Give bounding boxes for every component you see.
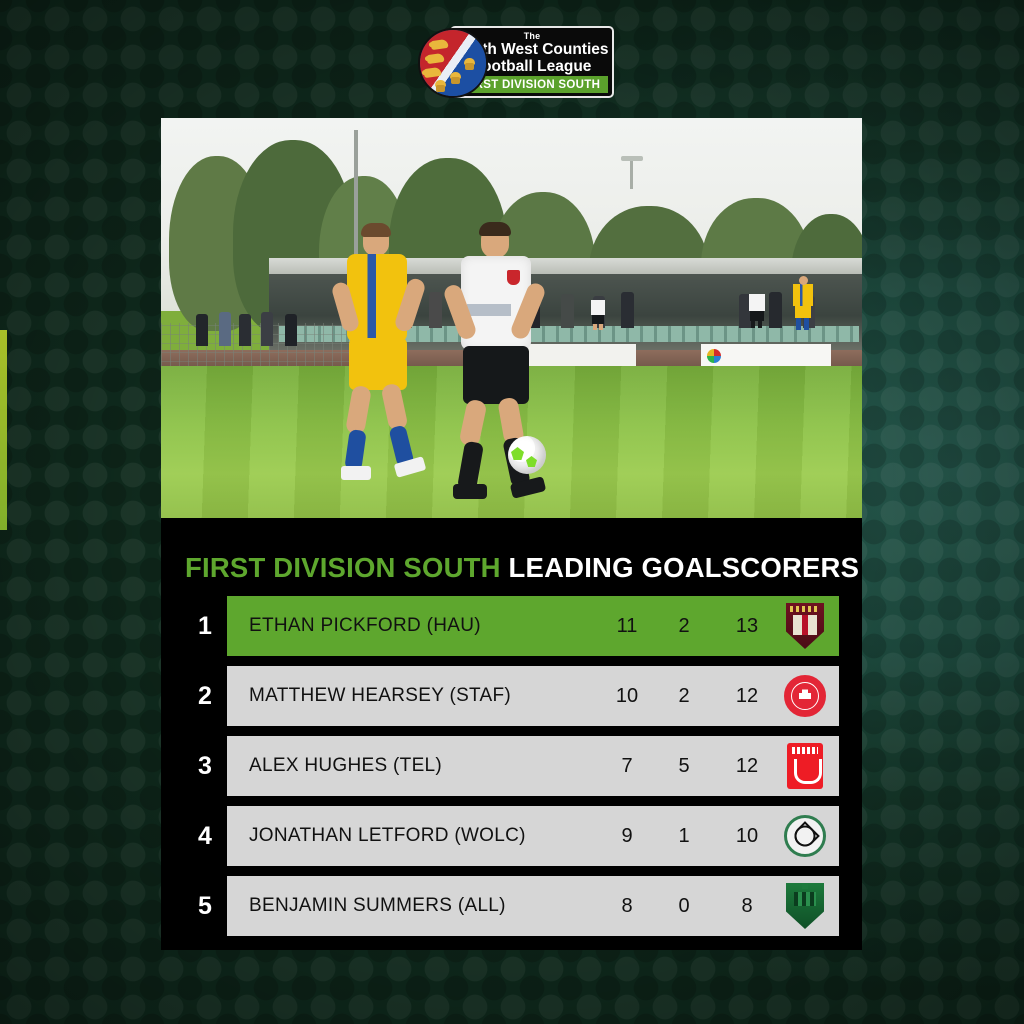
photo-player-yellow (339, 226, 449, 486)
row-player-name: ETHAN PICKFORD (HAU) (249, 615, 481, 637)
row-player-name: MATTHEW HEARSEY (STAF) (249, 685, 511, 707)
photo-player-white (443, 226, 573, 504)
row-player-name: ALEX HUGHES (TEL) (249, 755, 442, 777)
row-rank: 2 (185, 666, 225, 726)
table-row[interactable]: 2 MATTHEW HEARSEY (STAF) 10 2 12 (161, 666, 862, 726)
logo-the-label: The (524, 31, 541, 41)
logo-line-2: Football League (473, 58, 592, 75)
row-cup-goals: 2 (664, 615, 704, 638)
photo-player-distant (749, 294, 765, 328)
row-cup-goals: 2 (664, 685, 704, 708)
crest-crown-icon (435, 80, 446, 93)
crest-crown-icon (464, 58, 475, 71)
row-rank: 3 (185, 736, 225, 796)
row-player-name: JONATHAN LETFORD (WOLC) (249, 825, 526, 847)
photo-spectator (621, 292, 634, 328)
goalscorers-panel: FIRST DIVISION SOUTH LEADING GOALSCORERS… (161, 518, 862, 950)
telford-town-badge-icon (782, 741, 828, 791)
wolverhampton-casuals-badge-icon (782, 811, 828, 861)
row-cup-goals: 0 (664, 895, 704, 918)
table-row[interactable]: 4 JONATHAN LETFORD (WOLC) 9 1 10 (161, 806, 862, 866)
table-row[interactable]: 1 ETHAN PICKFORD (HAU) 11 2 13 (161, 596, 862, 656)
photo-player-distant (591, 300, 605, 330)
row-league-goals: 7 (607, 755, 647, 778)
table-row[interactable]: 5 BENJAMIN SUMMERS (ALL) 8 0 8 (161, 876, 862, 936)
row-total-goals: 12 (727, 755, 767, 778)
row-cup-goals: 1 (664, 825, 704, 848)
photo-spectator (219, 312, 231, 346)
accent-bar-left (0, 330, 7, 530)
row-bar: MATTHEW HEARSEY (STAF) 10 2 12 (227, 666, 839, 726)
row-bar: ETHAN PICKFORD (HAU) 11 2 13 (227, 596, 839, 656)
title-heading: LEADING GOALSCORERS (509, 552, 860, 583)
row-rank: 5 (185, 876, 225, 936)
row-player-name: BENJAMIN SUMMERS (ALL) (249, 895, 506, 917)
goalscorers-table: 1 ETHAN PICKFORD (HAU) 11 2 13 2 MATTHEW… (161, 596, 862, 946)
league-crest-icon (418, 28, 488, 98)
row-rank: 1 (185, 596, 225, 656)
row-total-goals: 10 (727, 825, 767, 848)
row-league-goals: 10 (607, 685, 647, 708)
photo-spectator (769, 292, 782, 328)
haughmond-badge-icon (782, 601, 828, 651)
photo-advert-board (701, 344, 831, 368)
page-title: FIRST DIVISION SOUTH LEADING GOALSCORERS (185, 552, 859, 584)
row-rank: 4 (185, 806, 225, 866)
row-total-goals: 13 (727, 615, 767, 638)
photo-floodlight (621, 156, 643, 161)
crest-crown-icon (450, 72, 461, 85)
row-league-goals: 9 (607, 825, 647, 848)
photo-advert-logo-icon (707, 349, 721, 363)
row-total-goals: 12 (727, 685, 767, 708)
row-bar: ALEX HUGHES (TEL) 7 5 12 (227, 736, 839, 796)
photo-club-crest-icon (507, 270, 520, 285)
row-league-goals: 11 (607, 615, 647, 638)
match-photo (161, 118, 862, 520)
photo-player-distant (793, 284, 813, 332)
row-total-goals: 8 (727, 895, 767, 918)
photo-football-icon (508, 436, 546, 474)
allscott-heath-badge-icon (782, 881, 828, 931)
table-row[interactable]: 3 ALEX HUGHES (TEL) 7 5 12 (161, 736, 862, 796)
row-league-goals: 8 (607, 895, 647, 918)
row-bar: JONATHAN LETFORD (WOLC) 9 1 10 (227, 806, 839, 866)
photo-spectator (285, 314, 297, 346)
photo-spectator (239, 314, 251, 346)
photo-spectator (261, 312, 273, 346)
league-logo: The North West Counties Football League … (418, 26, 614, 102)
row-bar: BENJAMIN SUMMERS (ALL) 8 0 8 (227, 876, 839, 936)
stafford-town-badge-icon (782, 671, 828, 721)
photo-spectator (196, 314, 208, 346)
row-cup-goals: 5 (664, 755, 704, 778)
title-division: FIRST DIVISION SOUTH (185, 552, 501, 583)
